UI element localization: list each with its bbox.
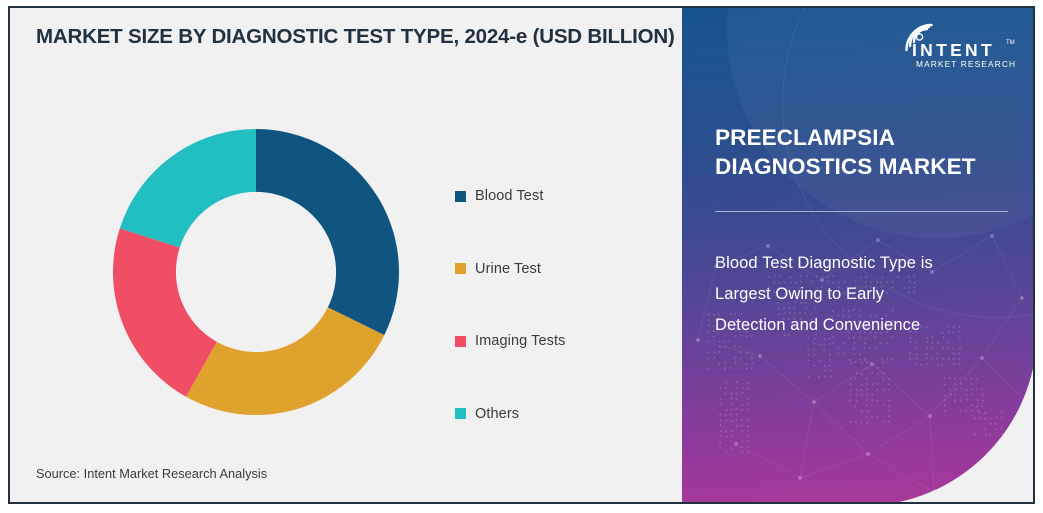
title-panel: INTENT TM MARKET RESEARCH PREECLAMPSIA D… <box>682 8 1035 504</box>
legend-swatch-others <box>455 408 466 419</box>
legend-label-others: Others <box>475 406 519 422</box>
brand-logo[interactable]: INTENT TM MARKET RESEARCH <box>894 20 1019 72</box>
legend-swatch-urine-test <box>455 263 466 274</box>
page-title: MARKET SIZE BY DIAGNOSTIC TEST TYPE, 202… <box>36 25 675 49</box>
panel-divider <box>715 211 1008 212</box>
donut-slice[interactable] <box>120 129 256 248</box>
logo-trademark: TM <box>1006 40 1015 46</box>
legend-label-blood-test: Blood Test <box>475 188 543 204</box>
legend-item-urine-test[interactable]: Urine Test <box>455 233 665 306</box>
panel-subtitle-line-2: Largest Owing to Early <box>715 279 1015 310</box>
donut-slice[interactable] <box>256 129 399 335</box>
source-note: Source: Intent Market Research Analysis <box>36 466 267 481</box>
panel-title: PREECLAMPSIA DIAGNOSTICS MARKET <box>715 123 1010 181</box>
legend-swatch-blood-test <box>455 191 466 202</box>
panel-subtitle-line-1: Blood Test Diagnostic Type is <box>715 248 1015 279</box>
donut-slice-group <box>113 129 399 415</box>
legend-swatch-imaging-tests <box>455 336 466 347</box>
panel-title-line-2: DIAGNOSTICS MARKET <box>715 152 1010 181</box>
infographic-card: MARKET SIZE BY DIAGNOSTIC TEST TYPE, 202… <box>8 6 1035 504</box>
logo-tagline: MARKET RESEARCH <box>916 59 1016 69</box>
logo-wordmark: INTENT <box>912 40 995 60</box>
chart-panel: MARKET SIZE BY DIAGNOSTIC TEST TYPE, 202… <box>10 8 682 502</box>
legend-item-others[interactable]: Others <box>455 378 665 451</box>
chart-legend: Blood Test Urine Test Imaging Tests Othe… <box>455 160 665 450</box>
donut-chart-svg <box>113 129 399 415</box>
legend-item-blood-test[interactable]: Blood Test <box>455 160 665 233</box>
title-panel-background: INTENT TM MARKET RESEARCH PREECLAMPSIA D… <box>682 8 1035 504</box>
panel-subtitle-line-3: Detection and Convenience <box>715 310 1015 341</box>
legend-label-imaging-tests: Imaging Tests <box>475 333 566 349</box>
panel-title-line-1: PREECLAMPSIA <box>715 123 1010 152</box>
legend-label-urine-test: Urine Test <box>475 261 541 277</box>
legend-item-imaging-tests[interactable]: Imaging Tests <box>455 305 665 378</box>
donut-slice[interactable] <box>186 307 384 415</box>
panel-subtitle: Blood Test Diagnostic Type is Largest Ow… <box>715 248 1015 341</box>
donut-chart <box>113 129 399 415</box>
